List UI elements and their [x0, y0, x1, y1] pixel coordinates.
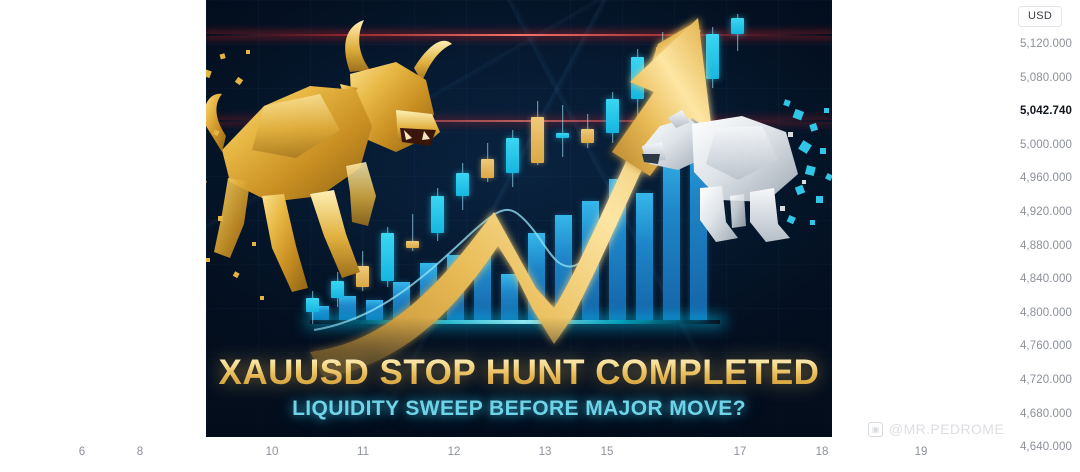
time-tick: 6 [79, 446, 85, 458]
time-tick: 15 [601, 446, 614, 458]
trading-chart-screen: XAUUSD STOP HUNT COMPLETED LIQUIDITY SWE… [0, 0, 1080, 472]
title-block: XAUUSD STOP HUNT COMPLETED LIQUIDITY SWE… [206, 355, 832, 421]
price-tick: 4,800.000 [1020, 307, 1072, 319]
silver-bear-figure [638, 88, 832, 268]
currency-badge[interactable]: USD [1018, 6, 1062, 27]
price-tick: 4,880.000 [1020, 240, 1072, 252]
time-tick: 18 [816, 446, 829, 458]
time-tick: 13 [539, 446, 552, 458]
price-tick: 4,720.000 [1020, 374, 1072, 386]
price-tick: 5,080.000 [1020, 72, 1072, 84]
price-tick: 4,640.000 [1020, 441, 1072, 453]
time-axis[interactable]: 68101112131517181920 [0, 437, 1080, 472]
price-axis[interactable]: USD 5,120.0005,080.0005,042.7405,000.000… [1004, 0, 1080, 472]
chart-image-panel: XAUUSD STOP HUNT COMPLETED LIQUIDITY SWE… [206, 0, 832, 437]
golden-bull-figure [206, 10, 485, 310]
time-tick: 8 [137, 446, 143, 458]
price-tick: 4,760.000 [1020, 340, 1072, 352]
time-tick: 12 [448, 446, 461, 458]
price-tick: 4,920.000 [1020, 206, 1072, 218]
price-tick-current: 5,042.740 [1020, 105, 1072, 117]
page-title: XAUUSD STOP HUNT COMPLETED [206, 355, 832, 392]
time-tick: 11 [357, 446, 369, 458]
time-tick: 19 [915, 446, 928, 458]
time-tick: 10 [266, 446, 279, 458]
price-tick: 5,000.000 [1020, 139, 1072, 151]
watermark-badge-icon: ▣ [868, 422, 883, 437]
price-tick: 4,840.000 [1020, 273, 1072, 285]
price-tick: 4,680.000 [1020, 408, 1072, 420]
price-tick: 4,960.000 [1020, 172, 1072, 184]
price-tick: 5,120.000 [1020, 38, 1072, 50]
time-tick: 17 [734, 446, 747, 458]
page-subtitle: LIQUIDITY SWEEP BEFORE MAJOR MOVE? [206, 397, 832, 421]
